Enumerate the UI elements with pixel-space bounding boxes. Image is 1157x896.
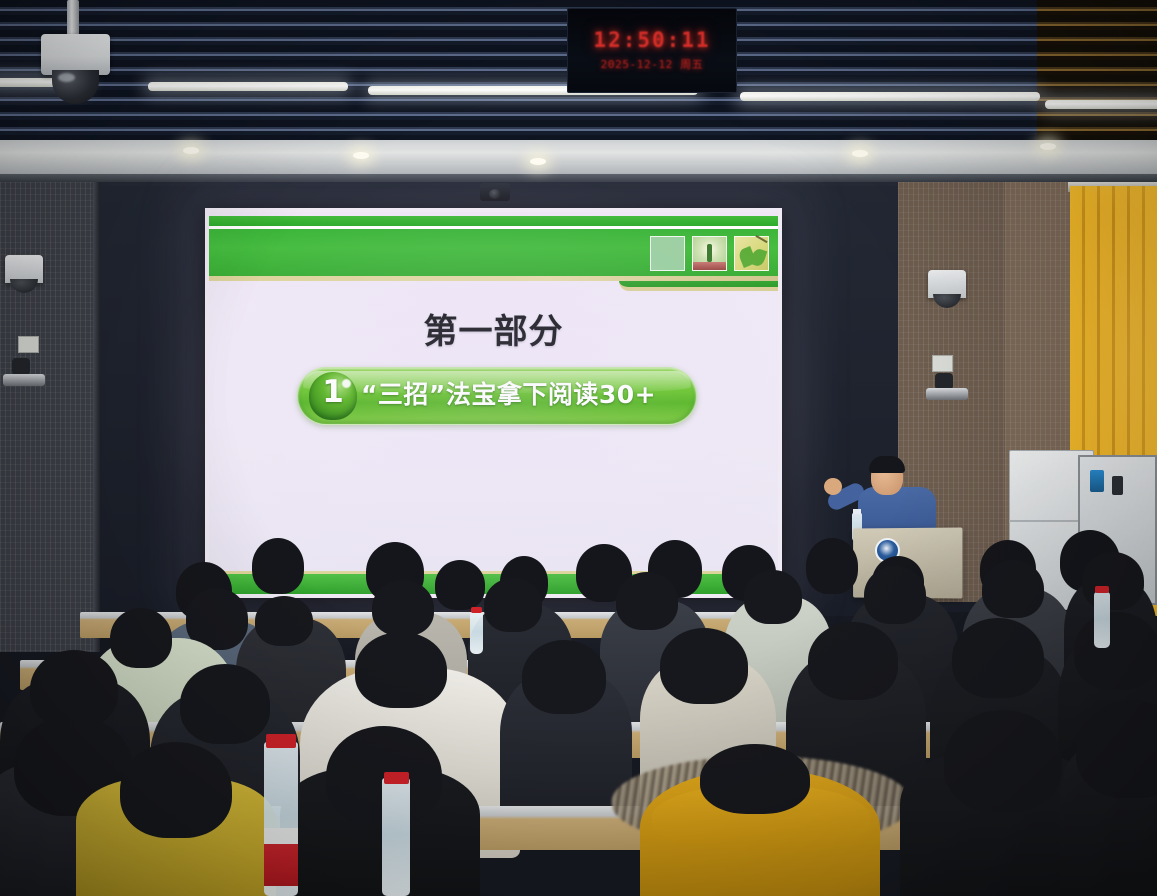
wall-speaker-right (926, 388, 968, 400)
bottle-cap (1095, 586, 1109, 593)
audience-head (255, 596, 313, 646)
audience-head (944, 710, 1062, 812)
recessed-downlight (183, 147, 199, 154)
led-clock-display: 12:50:11 2025-12-12 周五 (567, 8, 737, 93)
audience-head (806, 538, 858, 594)
bottle-cap (266, 734, 296, 748)
bottle-cap (384, 772, 409, 784)
wall-camera-left (5, 255, 43, 283)
audience-head (660, 628, 748, 704)
wall-speaker-left (3, 374, 45, 386)
presenter-hand (824, 478, 842, 495)
water-bottle (382, 778, 410, 896)
audience-head (616, 572, 678, 630)
slide-header-gold-rule (209, 276, 778, 281)
ceiling-tube-light (1045, 100, 1157, 109)
audience-head (355, 632, 447, 708)
audience-head (864, 566, 926, 624)
audience-head (1082, 552, 1144, 610)
ceiling-tube-light (148, 82, 348, 91)
dome-camera-highlight (58, 73, 75, 82)
audience-head (372, 580, 434, 636)
water-bottle (1094, 592, 1110, 648)
audience-head (252, 538, 304, 594)
projector-lens (489, 189, 501, 199)
bottle-cap (471, 607, 482, 613)
camera-mount-rod (67, 0, 79, 36)
presenter-hair (869, 456, 905, 473)
dome-camera-icon (41, 34, 110, 75)
wall-camera-right (928, 270, 966, 298)
wall-speaker-left-head (12, 358, 30, 375)
slatted-ceiling-warm-right (1037, 0, 1157, 148)
blank-thumb-icon (650, 236, 685, 271)
audience-head (808, 622, 898, 700)
bottle-label (264, 828, 298, 886)
audience-head (700, 744, 810, 814)
audience-head (952, 618, 1044, 698)
clock-time: 12:50:11 (593, 29, 710, 51)
audience-head (982, 560, 1044, 618)
ceiling-tube-light (740, 92, 1040, 101)
presenter-bottle-cap (853, 509, 861, 514)
wall-socket-right[interactable] (932, 355, 953, 372)
sprout-thumb-soil (693, 262, 726, 270)
recessed-downlight (353, 152, 369, 159)
recessed-downlight (1040, 143, 1056, 150)
recessed-downlight (530, 158, 546, 165)
sprout-thumb-stem (707, 244, 712, 262)
slide-header-top-strip (209, 216, 778, 226)
audience-head (484, 578, 542, 632)
audience-head (744, 570, 802, 624)
audience-head (522, 640, 606, 714)
slide-badge-number: 1 (309, 374, 357, 410)
audience-head (180, 664, 270, 744)
audience-head (110, 608, 172, 668)
audience-head (1074, 612, 1157, 690)
lecture-hall-photo: 12:50:11 2025-12-12 周五 第一部分 (0, 0, 1157, 896)
slide-title: 第一部分 (209, 304, 778, 353)
clock-date: 2025-12-12 周五 (601, 56, 704, 72)
recessed-downlight (852, 150, 868, 157)
whiteboard-marker-icon (1112, 476, 1123, 495)
audience-head (435, 560, 485, 610)
audience-head (120, 742, 232, 838)
wall-socket-left[interactable] (18, 336, 39, 353)
slide-headline-text: “三招”法宝拿下阅读30+ (361, 375, 691, 411)
water-bottle (470, 612, 483, 654)
whiteboard-marker-icon (1090, 470, 1104, 492)
